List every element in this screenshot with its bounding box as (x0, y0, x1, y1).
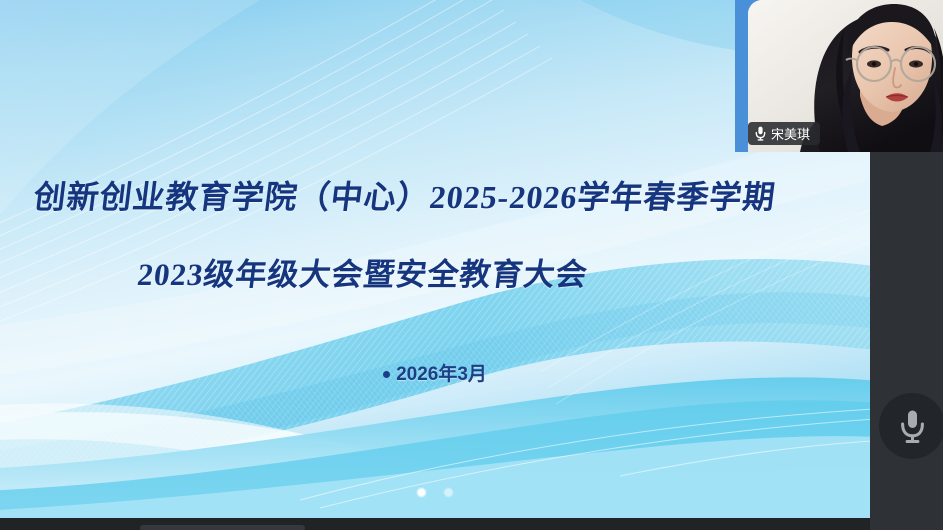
toolbar-pill (140, 525, 305, 530)
microphone-icon (879, 393, 943, 459)
bullet-icon (383, 371, 390, 378)
bottom-toolbar-strip (0, 518, 870, 530)
slide-title-line-2: 2023级年级大会暨安全教育大会 (0, 249, 801, 294)
microphone-icon (755, 126, 766, 141)
slide-date-text: 2026年3月 (396, 364, 487, 385)
slide-title-line-1: 创新创业教育学院（中心）2025-2026学年春季学期 (0, 172, 843, 218)
meeting-screen: 创新创业教育学院（中心）2025-2026学年春季学期 2023级年级大会暨安全… (0, 0, 943, 530)
mute-microphone-button[interactable] (879, 393, 943, 459)
slide-date: 2026年3月 (0, 359, 870, 386)
pagination-dot-2[interactable] (444, 488, 453, 497)
participant-name-label: 宋美琪 (771, 124, 810, 143)
participant-name-badge: 宋美琪 (748, 122, 820, 145)
pagination-dot-1[interactable] (417, 488, 426, 497)
slide-pagination-dots[interactable] (0, 488, 870, 497)
